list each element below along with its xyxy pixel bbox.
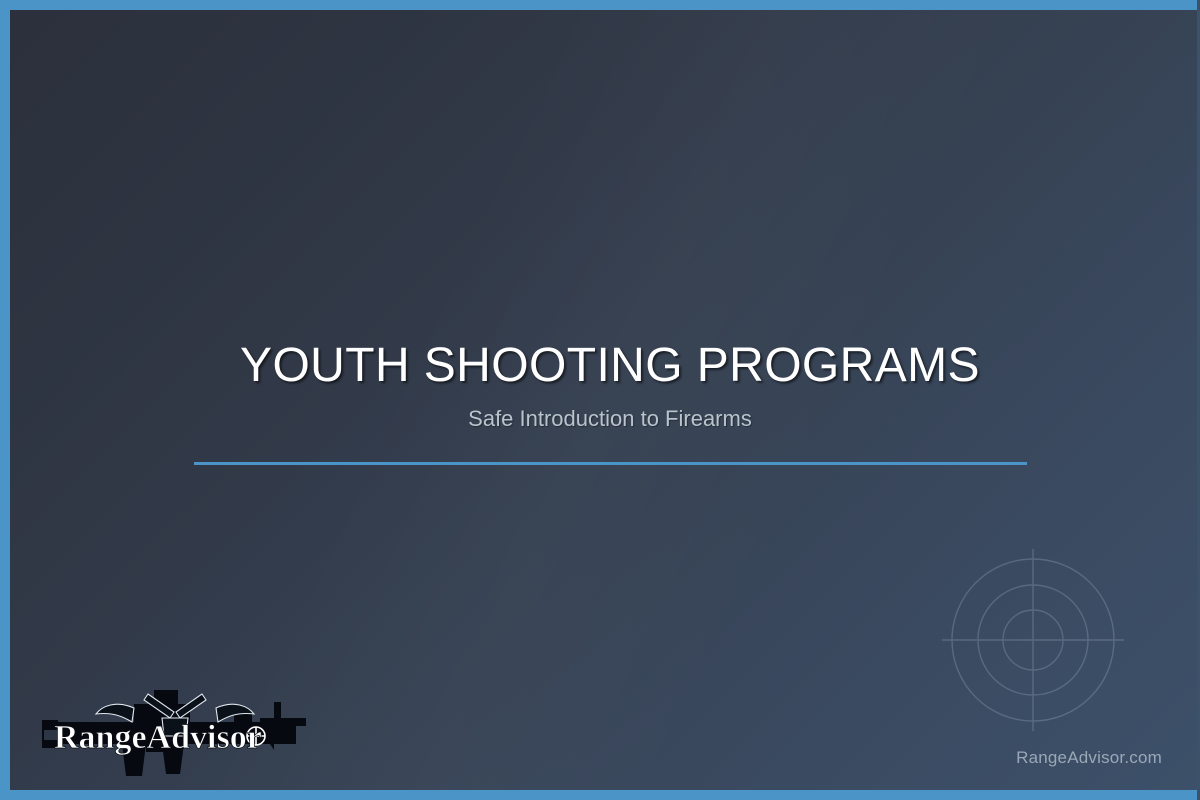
brand-logo: RangeAdvisor	[38, 678, 310, 782]
page-title: YOUTH SHOOTING PROGRAMS	[10, 340, 1200, 392]
accent-divider	[194, 462, 1027, 465]
frame-border-left	[0, 0, 10, 800]
frame-border-top	[0, 0, 1200, 10]
footer-url: RangeAdvisor.com	[1016, 748, 1162, 768]
page-subtitle: Safe Introduction to Firearms	[10, 406, 1200, 432]
target-crosshair-icon	[938, 545, 1128, 735]
frame-border-bottom	[0, 790, 1200, 800]
title-block: YOUTH SHOOTING PROGRAMS Safe Introductio…	[10, 340, 1200, 432]
slide-canvas: YOUTH SHOOTING PROGRAMS Safe Introductio…	[10, 10, 1200, 790]
brand-wordmark: RangeAdvisor	[54, 719, 262, 756]
title-slide: YOUTH SHOOTING PROGRAMS Safe Introductio…	[0, 0, 1200, 800]
